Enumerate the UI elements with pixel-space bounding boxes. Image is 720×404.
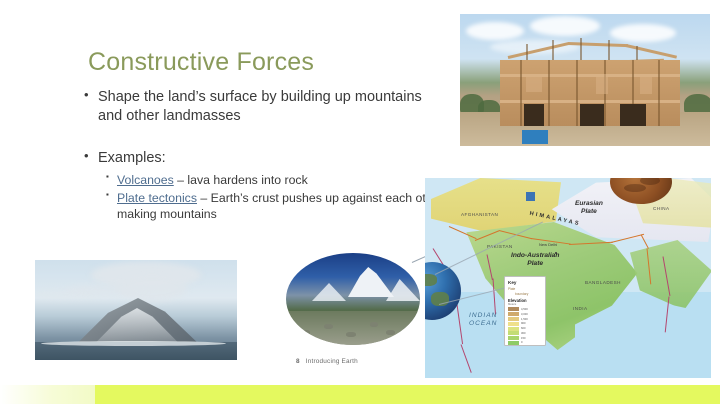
legend-swatch	[508, 312, 519, 316]
house-under-construction-photo	[460, 14, 710, 146]
map-label-china: CHINA	[653, 206, 670, 211]
bullet-item: Shape the land’s surface by building up …	[84, 88, 444, 125]
legend-scale: 4,500 3,000 1,500 900 600 300 150 0	[508, 307, 542, 345]
legend-units: Meters	[508, 303, 542, 306]
himalaya-mountain-oval-photo	[286, 253, 420, 345]
body-text-block: Shape the land’s surface by building up …	[84, 88, 444, 224]
legend-entry: 600	[508, 326, 542, 330]
legend-entry: 300	[508, 331, 542, 335]
legend-entry: 0	[508, 341, 542, 345]
map-legend: Key Plate boundary Elevation Meters 4,50…	[504, 276, 546, 346]
legend-entry: 1,500	[508, 317, 542, 321]
legend-swatch	[508, 317, 519, 321]
spacer	[84, 127, 444, 149]
sub-bullet-text: – lava hardens into rock	[174, 173, 308, 187]
footer-bar	[95, 385, 720, 404]
map-highlight-marker	[526, 192, 535, 201]
link-plate-tectonics[interactable]: Plate tectonics	[117, 191, 197, 205]
sub-bullet-list: Volcanoes – lava hardens into rock Plate…	[84, 172, 444, 223]
page-title: Constructive Forces	[88, 48, 314, 77]
map-plate-label-indo-australian: Indo-Australian Plate	[511, 252, 559, 268]
legend-entry: 4,500	[508, 307, 542, 311]
image-caption: 8Introducing Earth	[296, 358, 358, 365]
slide: Constructive Forces Shape the land’s sur…	[0, 0, 720, 404]
legend-swatch	[508, 336, 519, 340]
map-ocean-label: INDIAN OCEAN	[469, 312, 497, 328]
map-label-india: INDIA	[573, 306, 588, 311]
erupting-volcano-photo	[35, 260, 237, 360]
legend-swatch	[508, 307, 519, 311]
map-city-label-new-delhi: New Delhi	[539, 242, 557, 247]
map-city-dot	[555, 252, 557, 254]
legend-title: Key	[508, 280, 542, 285]
legend-swatch	[508, 331, 519, 335]
map-label-afghanistan: AFGHANISTAN	[461, 212, 498, 217]
legend-entry: 900	[508, 322, 542, 326]
legend-entry: 150	[508, 336, 542, 340]
map-label-bangladesh: BANGLADESH	[585, 280, 621, 285]
bullet-item: Examples:	[84, 149, 444, 168]
legend-swatch	[508, 327, 519, 331]
legend-swatch	[508, 341, 519, 345]
sub-bullet-item: Plate tectonics – Earth’s crust pushes u…	[106, 190, 444, 222]
footer-bar-gradient	[0, 385, 95, 404]
legend-entry: 3,000	[508, 312, 542, 316]
legend-swatch	[508, 322, 519, 326]
caption-text: Introducing Earth	[306, 358, 358, 365]
legend-boundary-label: Plate boundary	[508, 287, 542, 296]
caption-number: 8	[296, 358, 300, 365]
plate-tectonics-map: HIMALAYAS Eurasian Plate Indo-Australian…	[425, 178, 711, 378]
link-volcanoes[interactable]: Volcanoes	[117, 173, 174, 187]
sub-bullet-item: Volcanoes – lava hardens into rock	[106, 172, 444, 188]
map-plate-label-eurasian: Eurasian Plate	[575, 200, 603, 216]
